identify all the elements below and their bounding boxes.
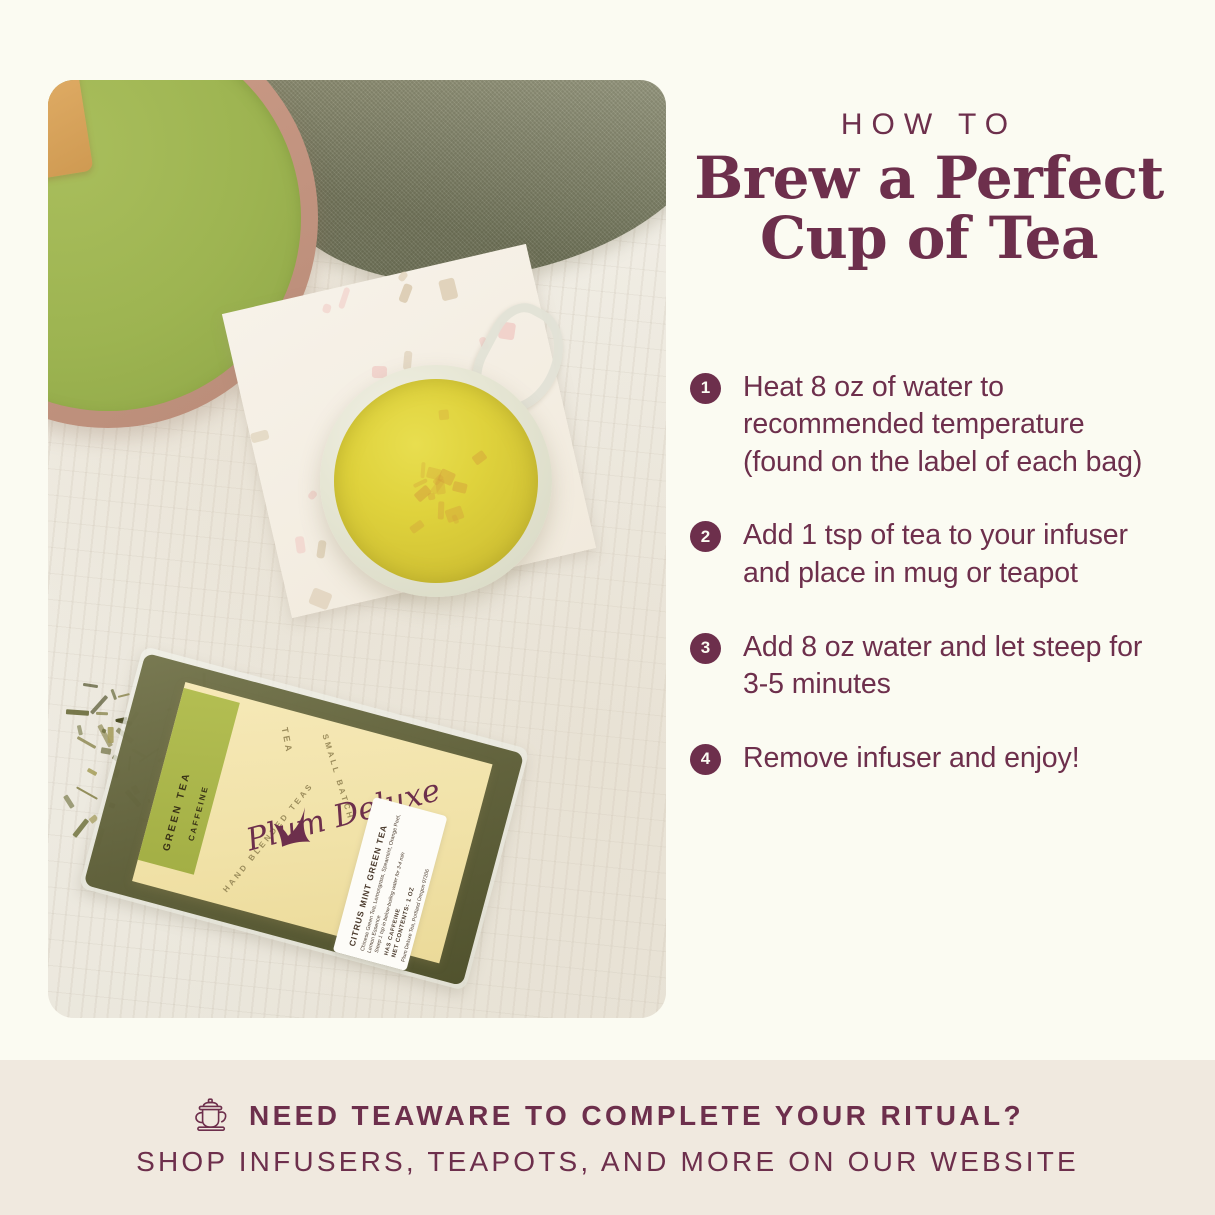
- page-title: Brew a Perfect Cup of Tea: [690, 148, 1168, 269]
- teapot-icon: [191, 1098, 233, 1134]
- tea-leaf-fleck: [438, 410, 449, 421]
- instructions-column: HOW TO Brew a Perfect Cup of Tea 1 Heat …: [690, 80, 1168, 814]
- step-text: Heat 8 oz of water to recommended temper…: [743, 369, 1168, 482]
- step-number-badge: 4: [690, 744, 721, 775]
- page-title-line-2: Cup of Tea: [690, 208, 1168, 268]
- page-title-line-1: Brew a Perfect: [694, 144, 1163, 212]
- terrazzo-chip: [338, 287, 350, 310]
- footer-subline: SHOP INFUSERS, TEAPOTS, AND MORE ON OUR …: [136, 1146, 1079, 1178]
- pouch-tea-word: TEA: [280, 727, 295, 755]
- list-item: 2 Add 1 tsp of tea to your infuser and p…: [690, 517, 1168, 592]
- tea-leaf-fleck: [409, 520, 425, 535]
- step-text: Add 8 oz water and let steep for 3-5 min…: [743, 629, 1168, 704]
- step-text: Add 1 tsp of tea to your infuser and pla…: [743, 517, 1168, 592]
- step-text: Remove infuser and enjoy!: [743, 740, 1080, 778]
- terrazzo-chip: [439, 277, 459, 301]
- footer-cta-band: NEED TEAWARE TO COMPLETE YOUR RITUAL? SH…: [0, 1060, 1215, 1215]
- tea-leaf-fleck: [452, 481, 468, 494]
- brewing-steps-list: 1 Heat 8 oz of water to recommended temp…: [690, 369, 1168, 778]
- list-item: 1 Heat 8 oz of water to recommended temp…: [690, 369, 1168, 482]
- terrazzo-chip: [322, 303, 332, 314]
- terrazzo-chip: [398, 283, 413, 304]
- tea-leaf-fleck: [471, 450, 487, 466]
- step-number-badge: 3: [690, 633, 721, 664]
- poster-canvas: GREEN TEA CAFFEINE TEA SMALL BATCH HAND …: [0, 0, 1215, 1215]
- tea-leaf-fleck: [438, 501, 445, 519]
- hero-photo: GREEN TEA CAFFEINE TEA SMALL BATCH HAND …: [48, 80, 666, 1018]
- cracker: [48, 80, 94, 194]
- terrazzo-chip: [250, 429, 270, 443]
- terrazzo-chip: [308, 587, 333, 610]
- terrazzo-chip: [307, 490, 318, 501]
- glass-tea-cup: [320, 365, 552, 597]
- eyebrow-label: HOW TO: [690, 108, 1168, 142]
- list-item: 3 Add 8 oz water and let steep for 3-5 m…: [690, 629, 1168, 704]
- terrazzo-chip: [295, 536, 306, 554]
- step-number-badge: 1: [690, 373, 721, 404]
- footer-primary-row: NEED TEAWARE TO COMPLETE YOUR RITUAL?: [191, 1098, 1024, 1134]
- footer-headline: NEED TEAWARE TO COMPLETE YOUR RITUAL?: [249, 1100, 1024, 1132]
- brewed-green-tea: [334, 379, 538, 583]
- step-number-badge: 2: [690, 521, 721, 552]
- list-item: 4 Remove infuser and enjoy!: [690, 740, 1168, 778]
- terrazzo-chip: [317, 540, 327, 559]
